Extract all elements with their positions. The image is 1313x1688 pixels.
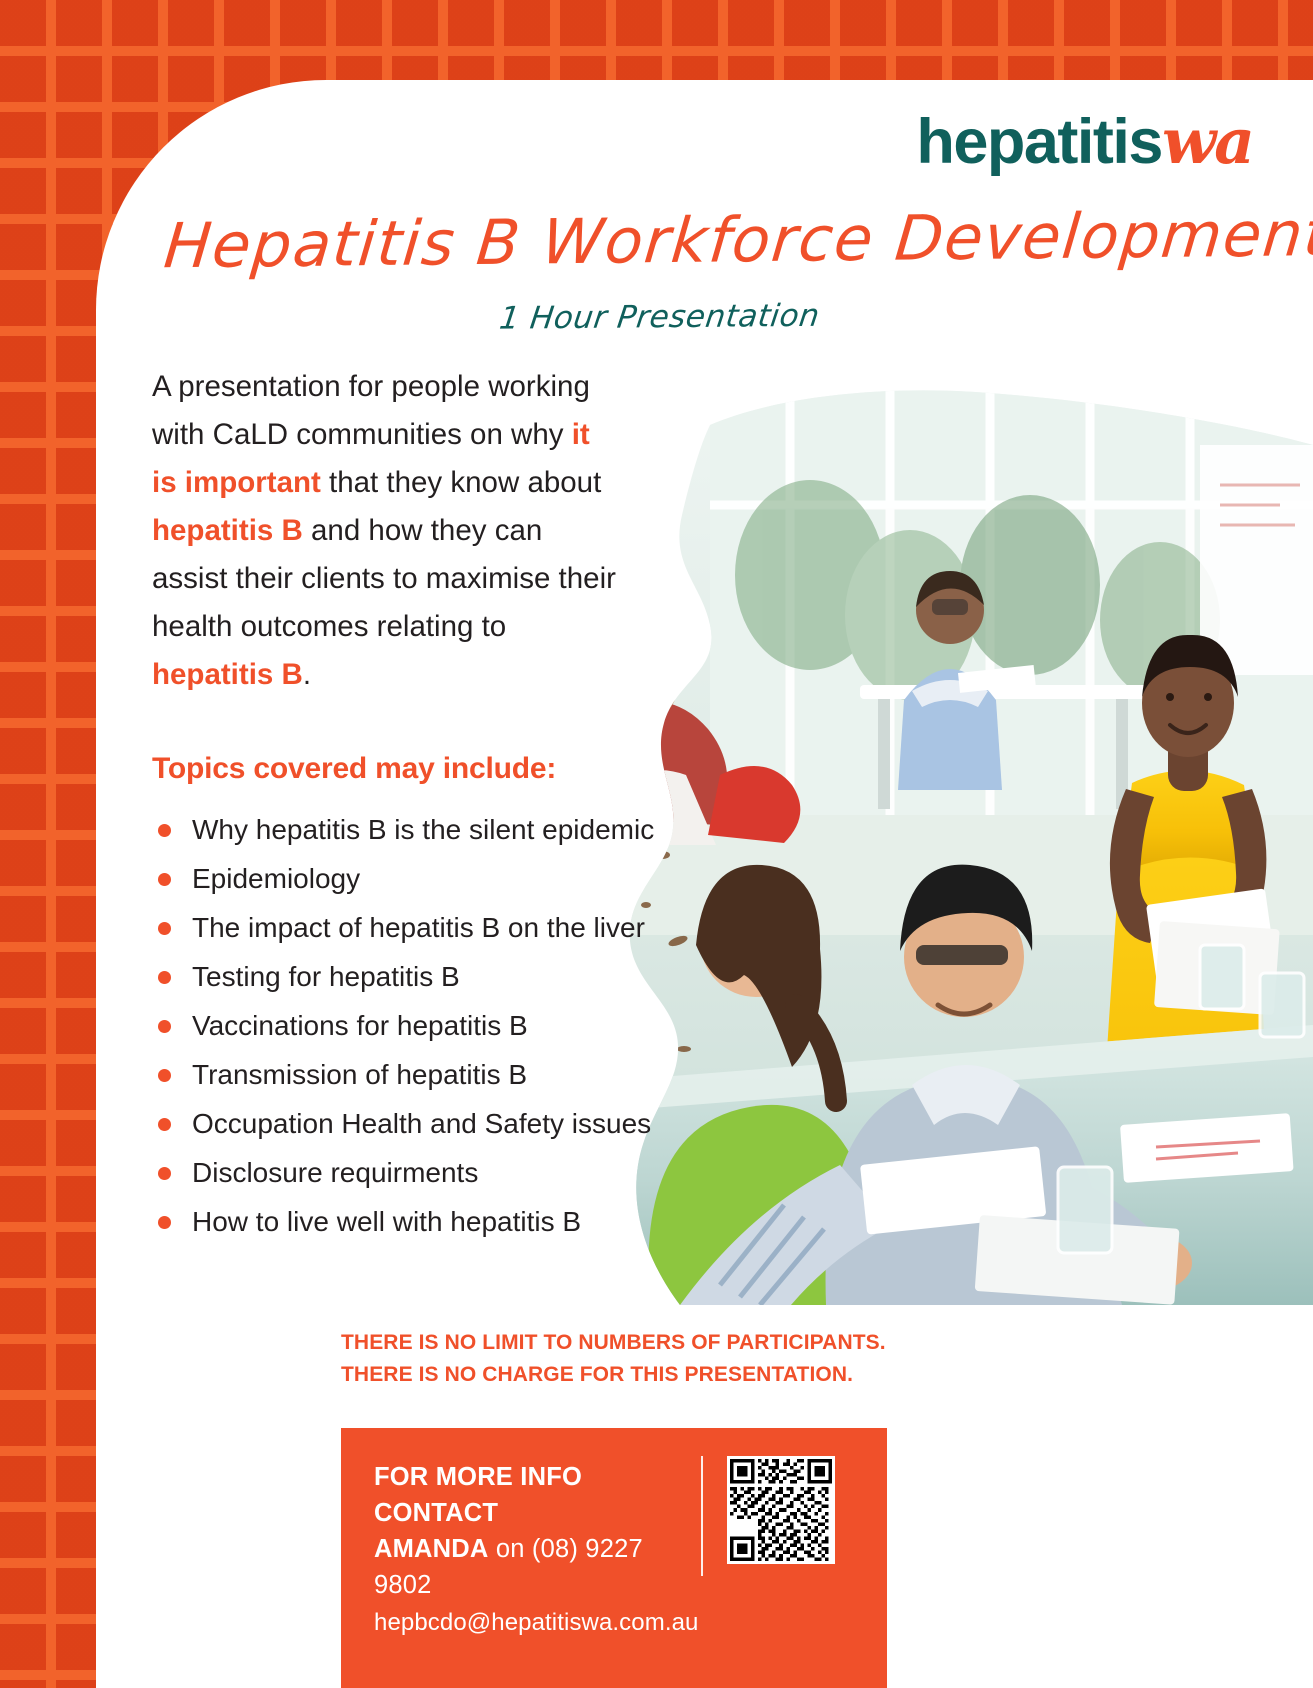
qr-code[interactable] [727, 1456, 835, 1564]
notice-text: THERE IS NO LIMIT TO NUMBERS OF PARTICIP… [341, 1327, 1041, 1391]
intro-emphasis-2: hepatitis B [152, 514, 303, 547]
intro-emphasis-3: hepatitis B [152, 658, 303, 691]
list-item: Epidemiology [152, 861, 672, 896]
list-item: The impact of hepatitis B on the liver [152, 910, 672, 945]
contact-name: AMANDA [374, 1535, 489, 1563]
intro-paragraph: A presentation for people working with C… [152, 363, 622, 699]
list-item-label: Testing for hepatitis B [192, 961, 460, 992]
contact-heading: FOR MORE INFO CONTACT [374, 1459, 701, 1531]
intro-seg-1: A presentation for people working with C… [152, 370, 590, 451]
contact-name-phone: AMANDA on (08) 9227 9802 [374, 1531, 701, 1603]
topics-heading: Topics covered may include: [152, 752, 556, 786]
qr-code-icon [730, 1459, 832, 1561]
bullet-dot-icon [158, 1020, 171, 1033]
list-item-label: Transmission of hepatitis B [192, 1059, 527, 1090]
list-item: Disclosure requirments [152, 1155, 672, 1190]
topics-list: Why hepatitis B is the silent epidemic E… [152, 812, 672, 1253]
bullet-dot-icon [158, 1216, 171, 1229]
contact-bar: FOR MORE INFO CONTACT AMANDA on (08) 922… [341, 1428, 887, 1688]
list-item-label: Disclosure requirments [192, 1157, 478, 1188]
page-title: Hepatitis B Workforce Development [161, 203, 1178, 279]
bullet-dot-icon [158, 1118, 171, 1131]
intro-seg-4: . [303, 658, 311, 691]
logo-text-wa: wa [1162, 104, 1253, 178]
list-item-label: Epidemiology [192, 863, 360, 894]
list-item: Why hepatitis B is the silent epidemic [152, 812, 672, 847]
bullet-dot-icon [158, 1167, 171, 1180]
logo-text-hepatitis: hepatitis [916, 107, 1162, 177]
list-item-label: Why hepatitis B is the silent epidemic [192, 814, 654, 845]
list-item: Testing for hepatitis B [152, 959, 672, 994]
list-item: Occupation Health and Safety issues [152, 1106, 672, 1141]
notice-line-2: THERE IS NO CHARGE FOR THIS PRESENTATION… [341, 1359, 1041, 1391]
list-item: Transmission of hepatitis B [152, 1057, 672, 1092]
bullet-dot-icon [158, 971, 171, 984]
notice-line-1: THERE IS NO LIMIT TO NUMBERS OF PARTICIP… [341, 1327, 1041, 1359]
photo-illustration [560, 385, 1313, 1305]
contact-details: FOR MORE INFO CONTACT AMANDA on (08) 922… [341, 1428, 701, 1643]
contact-phone-prefix: on [489, 1535, 532, 1563]
list-item: How to live well with hepatitis B [152, 1204, 672, 1239]
bullet-dot-icon [158, 824, 171, 837]
bullet-dot-icon [158, 873, 171, 886]
contact-email[interactable]: hepbcdo@hepatitiswa.com.au [374, 1603, 701, 1643]
intro-seg-2: that they know about [321, 466, 601, 499]
list-item: Vaccinations for hepatitis B [152, 1008, 672, 1043]
list-item-label: Occupation Health and Safety issues [192, 1108, 651, 1139]
page-subtitle: 1 Hour Presentation [497, 295, 1102, 336]
meeting-room-photo [560, 385, 1313, 1305]
bullet-dot-icon [158, 922, 171, 935]
vertical-divider [701, 1456, 703, 1576]
list-item-label: The impact of hepatitis B on the liver [192, 912, 645, 943]
hepatitiswa-logo: hepatitiswa [916, 110, 1253, 174]
list-item-label: How to live well with hepatitis B [192, 1206, 581, 1237]
bullet-dot-icon [158, 1069, 171, 1082]
list-item-label: Vaccinations for hepatitis B [192, 1010, 528, 1041]
